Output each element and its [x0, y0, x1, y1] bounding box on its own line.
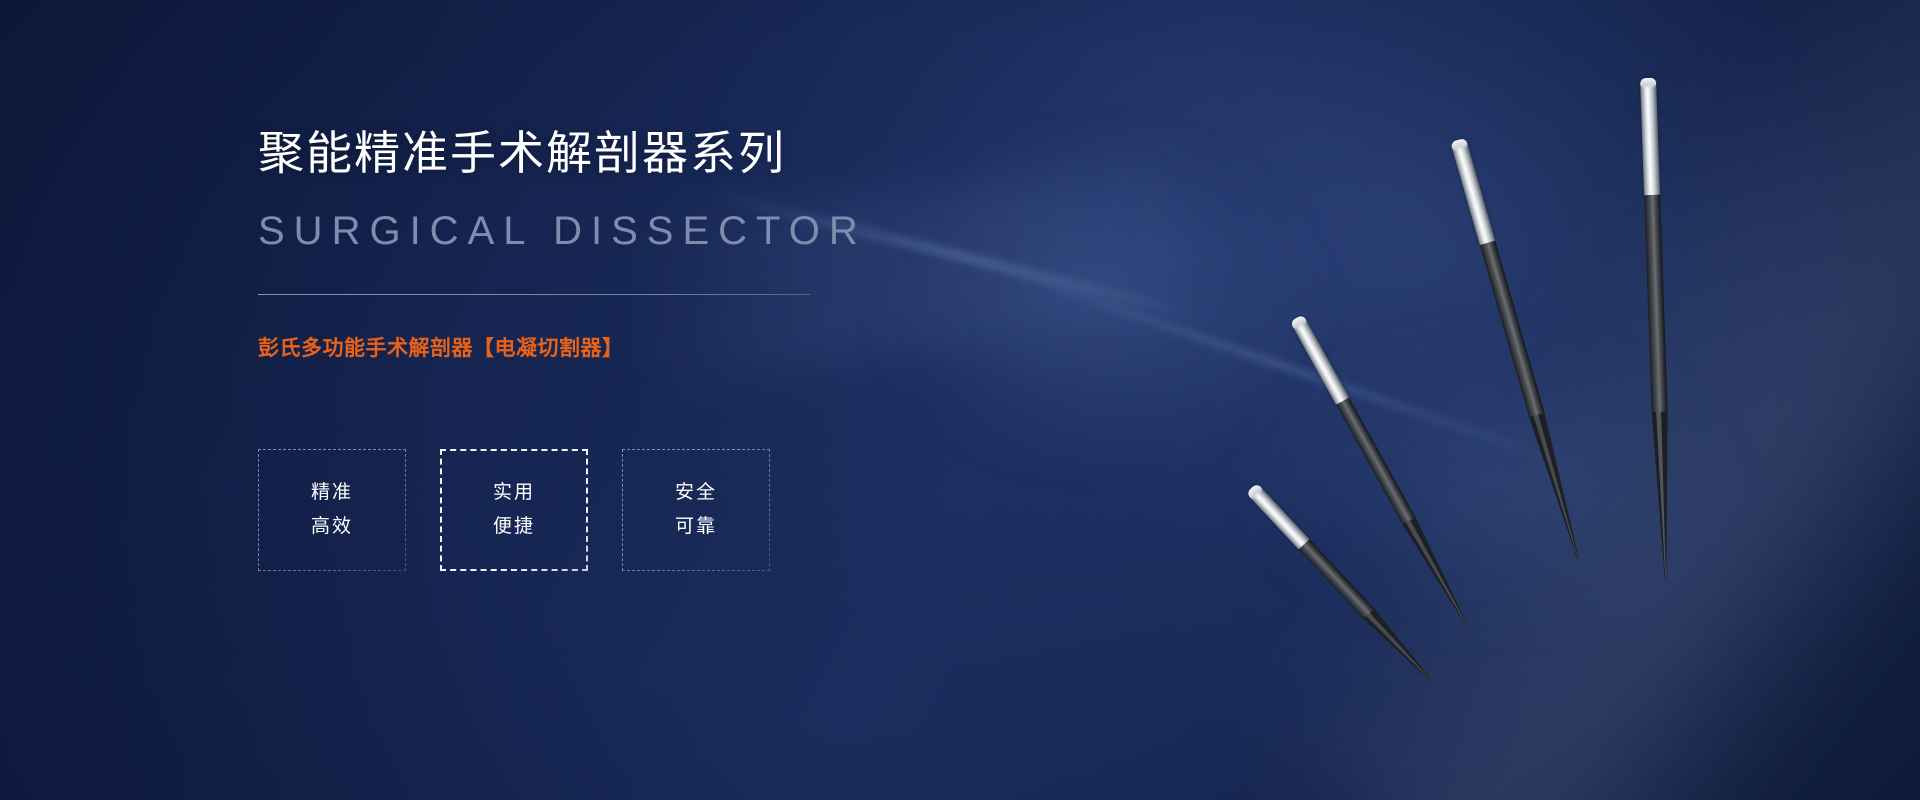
instrument-4: [1640, 78, 1671, 508]
instrument-handle: [1290, 314, 1350, 405]
instrument-1: [1246, 483, 1427, 676]
instrument-shaft: [1480, 241, 1545, 418]
feature-line-2: 可靠: [675, 510, 717, 544]
hero-banner: 聚能精准手术解剖器系列 SURGICAL DISSECTOR 彭氏多功能手术解剖…: [0, 0, 1920, 800]
ghost-hand-shape-two: [1180, 330, 1800, 710]
instrument-handle: [1450, 138, 1495, 246]
instrument-shaft: [1299, 539, 1375, 619]
instrument-handle: [1246, 483, 1310, 550]
instrument-3: [1450, 138, 1565, 488]
instrument-tip: [1529, 413, 1586, 562]
instrument-shaft: [1644, 195, 1668, 413]
ghost-instrument-streak-two: [976, 256, 1584, 474]
instrument-shaft: [1336, 397, 1416, 525]
instrument-handle: [1640, 78, 1660, 196]
light-beam: [1248, 0, 1920, 800]
feature-box-precision[interactable]: 精准 高效: [258, 449, 406, 571]
instrument-tip: [1652, 412, 1674, 580]
feature-box-row: 精准 高效 实用 便捷 安全 可靠: [258, 449, 770, 571]
feature-line-1: 精准: [311, 476, 353, 510]
instrument-2: [1290, 314, 1449, 584]
title-divider: [258, 294, 810, 295]
page-title: 聚能精准手术解剖器系列: [258, 126, 786, 180]
instrument-tip: [1363, 609, 1435, 685]
feature-line-1: 安全: [675, 476, 717, 510]
feature-line-2: 高效: [311, 510, 353, 544]
page-subtitle-english: SURGICAL DISSECTOR: [258, 209, 867, 253]
product-name-label: 彭氏多功能手术解剖器【电凝切割器】: [258, 332, 624, 362]
hero-content: 聚能精准手术解剖器系列 SURGICAL DISSECTOR 彭氏多功能手术解剖…: [258, 0, 1018, 800]
feature-box-practical[interactable]: 实用 便捷: [440, 449, 588, 571]
feature-line-2: 便捷: [493, 510, 535, 544]
feature-line-1: 实用: [493, 476, 535, 510]
feature-box-safety[interactable]: 安全 可靠: [622, 449, 770, 571]
instrument-tip: [1402, 517, 1474, 631]
